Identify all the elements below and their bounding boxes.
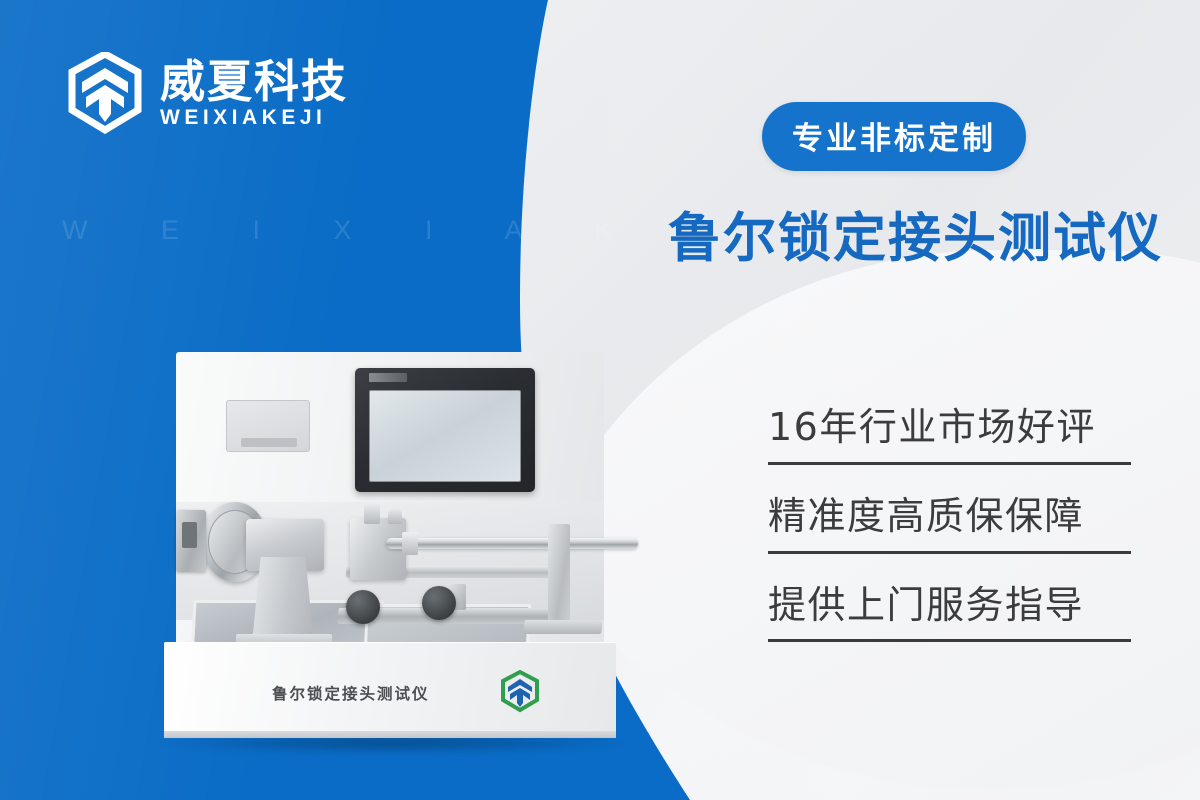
feature-divider [768, 639, 1131, 642]
adjustment-knob-icon[interactable] [346, 590, 380, 624]
feature-label: 16年行业市场好评 [768, 405, 1131, 450]
shaft-collar [402, 532, 418, 555]
banner-stage: W E I X I A K E J I 威夏科技 WEIXIAKEJI 专业非标… [0, 0, 1200, 800]
hexagon-arrow-logo-icon [500, 670, 540, 714]
fixture-post-left [364, 504, 380, 524]
feature-list: 16年行业市场好评 精准度高质保保障 提供上门服务指导 [768, 405, 1131, 671]
brand-logo: 威夏科技 WEIXIAKEJI [68, 52, 348, 134]
custom-service-badge: 专业非标定制 [762, 102, 1026, 171]
machine-panel-label: 鲁尔锁定接头测试仪 [272, 682, 430, 704]
feature-divider [768, 551, 1131, 554]
bracket-base [523, 620, 602, 634]
product-machine: 鲁尔锁定接头测试仪 [150, 352, 630, 752]
brand-name-en: WEIXIAKEJI [160, 107, 348, 128]
brand-logo-text: 威夏科技 WEIXIAKEJI [160, 58, 348, 128]
adjustment-knob-icon[interactable] [422, 586, 456, 620]
support-pillar [252, 557, 314, 643]
specimen-fixture [350, 518, 406, 580]
lead-screw-shaft-icon [386, 538, 638, 549]
hexagon-arrow-logo-icon [68, 52, 142, 134]
support-bracket-icon [548, 524, 570, 632]
brand-name-cn: 威夏科技 [160, 58, 348, 105]
feature-item: 精准度高质保保障 [768, 494, 1131, 554]
feature-item: 提供上门服务指导 [768, 583, 1131, 643]
dial-mount-block [176, 510, 206, 572]
feature-divider [768, 462, 1131, 465]
page-title: 鲁尔锁定接头测试仪 [668, 196, 1163, 272]
fixture-post-right [388, 508, 402, 524]
feature-label: 精准度高质保保障 [768, 494, 1131, 539]
feature-item: 16年行业市场好评 [768, 405, 1131, 465]
feature-label: 提供上门服务指导 [768, 583, 1131, 628]
